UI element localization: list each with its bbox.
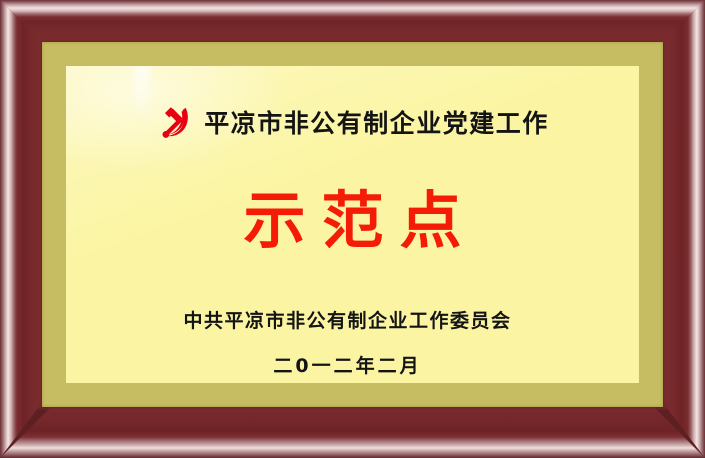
- certificate-headline: 示范点: [66, 188, 639, 253]
- certificate-panel: 平凉市非公有制企业党建工作 示范点 中共平凉市非公有制企业工作委员会 二0一二年…: [66, 66, 639, 383]
- frame-rail-left: [0, 0, 42, 458]
- cpc-hammer-sickle-emblem: [156, 104, 194, 142]
- certificate-title-row: 平凉市非公有制企业党建工作: [66, 104, 639, 142]
- issuing-organization: 中共平凉市非公有制企业工作委员会: [66, 306, 639, 333]
- certificate-title: 平凉市非公有制企业党建工作: [204, 111, 549, 136]
- certificate-content: 平凉市非公有制企业党建工作 示范点 中共平凉市非公有制企业工作委员会 二0一二年…: [66, 66, 639, 383]
- frame-rail-right: [663, 0, 705, 458]
- plaque-mat: 平凉市非公有制企业党建工作 示范点 中共平凉市非公有制企业工作委员会 二0一二年…: [42, 42, 663, 407]
- frame-rail-bottom: [0, 403, 705, 458]
- frame-rail-top: [0, 0, 705, 42]
- award-plaque: 平凉市非公有制企业党建工作 示范点 中共平凉市非公有制企业工作委员会 二0一二年…: [0, 0, 705, 458]
- issue-date: 二0一二年二月: [66, 351, 639, 378]
